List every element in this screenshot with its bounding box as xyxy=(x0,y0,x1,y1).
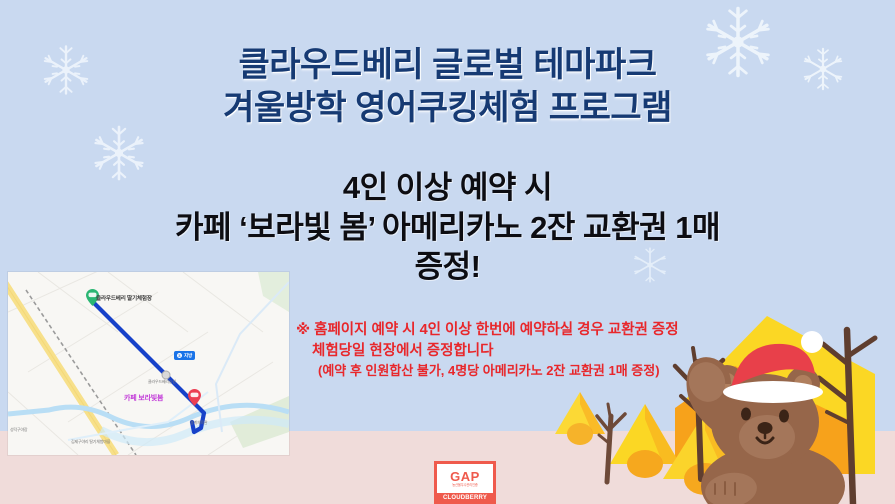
road-badge-label: 지방 xyxy=(184,353,192,359)
map-label-origin: 클라우드베리 딸기체험장 xyxy=(96,294,152,302)
yellow-tent-medium xyxy=(610,404,680,478)
notice-block: ※ 홈페이지 예약 시 4인 이상 한번에 예약하실 경우 교환권 증정 체험당… xyxy=(296,320,856,381)
logo-korean-subtext: 농산물우수관리인증 xyxy=(452,483,478,487)
map-road-badge: ① 지방 xyxy=(174,351,195,360)
subtitle-line-3: 증정! xyxy=(0,247,895,287)
poster-canvas: 클라우드베리 글로벌 테마파크 겨울방학 영어쿠킹체험 프로그램 4인 이상 예… xyxy=(0,0,895,504)
map-label-destination: 카페 보라빛봄 xyxy=(124,393,163,403)
map-poi-4: 성덕구야장 xyxy=(10,427,27,433)
bare-tree-left xyxy=(597,404,625,482)
subtitle-line-2: 카페 ‘보라빛 봄’ 아메리카노 2잔 교환권 1매 xyxy=(0,208,895,248)
map-pin-destination[interactable] xyxy=(188,389,199,404)
subtitle-line-1: 4인 이상 예약 시 xyxy=(0,168,895,208)
notice-line-1: ※ 홈페이지 예약 시 4인 이상 한번에 예약하실 경우 교환권 증정 xyxy=(296,320,856,341)
map-poi-2: 김제구야리 딸기체험마을 xyxy=(71,439,110,445)
logo-brand-name: CLOUDBERRY xyxy=(437,493,493,504)
gap-cloudberry-logo: GAP 농산물우수관리인증 CLOUDBERRY xyxy=(434,461,496,504)
poster-title: 클라우드베리 글로벌 테마파크 겨울방학 영어쿠킹체험 프로그램 xyxy=(0,44,895,130)
notice-line-3: (예약 후 인원합산 불가, 4명당 아메리카노 2잔 교환권 1매 증정) xyxy=(296,362,856,381)
map-poi-3: 용계체육관 xyxy=(190,420,207,426)
location-map[interactable]: 클라우드베리 딸기체험장 카페 보라빛봄 ① 지방 클라우드베리농원 김제구야리… xyxy=(8,272,289,455)
map-poi-1: 클라우드베리농원 xyxy=(148,379,176,385)
notice-line-2: 체험당일 현장에서 증정합니다 xyxy=(296,341,856,362)
poster-subtitle: 4인 이상 예약 시 카페 ‘보라빛 봄’ 아메리카노 2잔 교환권 1매 증정… xyxy=(0,168,895,287)
logo-mark-area: GAP 농산물우수관리인증 xyxy=(437,464,493,493)
logo-gap-text: GAP xyxy=(450,471,480,483)
title-line-2: 겨울방학 영어쿠킹체험 프로그램 xyxy=(0,87,895,130)
road-badge-circle-icon: ① xyxy=(177,353,182,358)
title-line-1: 클라우드베리 글로벌 테마파크 xyxy=(0,44,895,87)
